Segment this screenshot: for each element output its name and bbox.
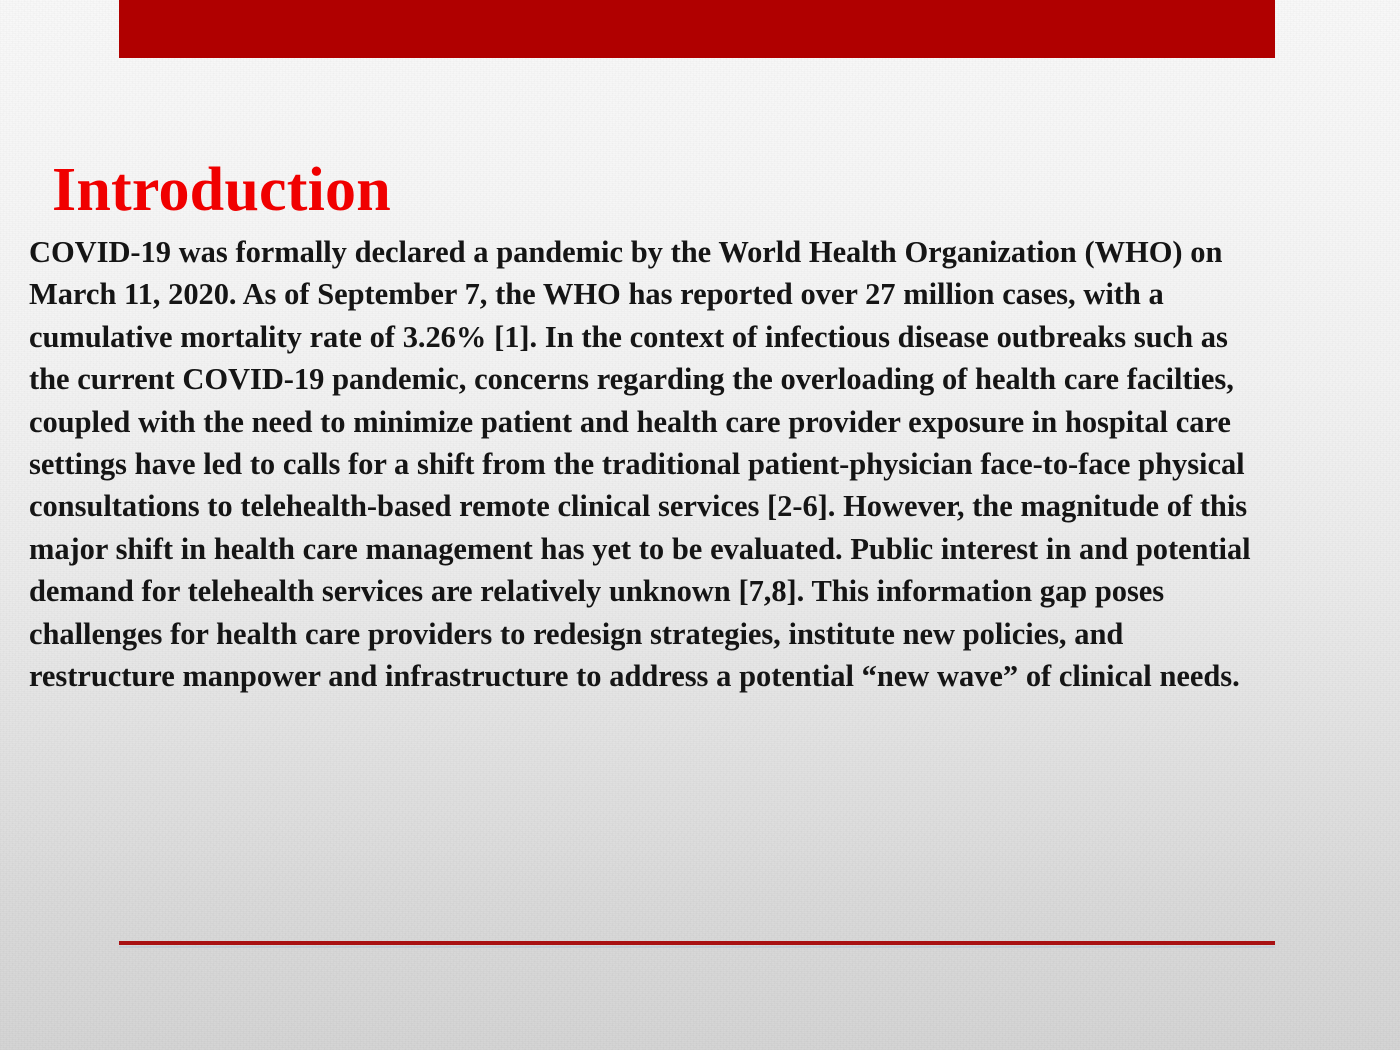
presentation-slide: Introduction COVID-19 was formally decla… (0, 0, 1400, 1050)
bottom-divider-shadow (119, 946, 1275, 948)
body-paragraph: COVID-19 was formally declared a pandemi… (29, 231, 1261, 697)
page-title: Introduction (52, 154, 391, 226)
bottom-divider-rule (119, 941, 1275, 945)
slide-content: Introduction COVID-19 was formally decla… (0, 0, 1400, 1050)
